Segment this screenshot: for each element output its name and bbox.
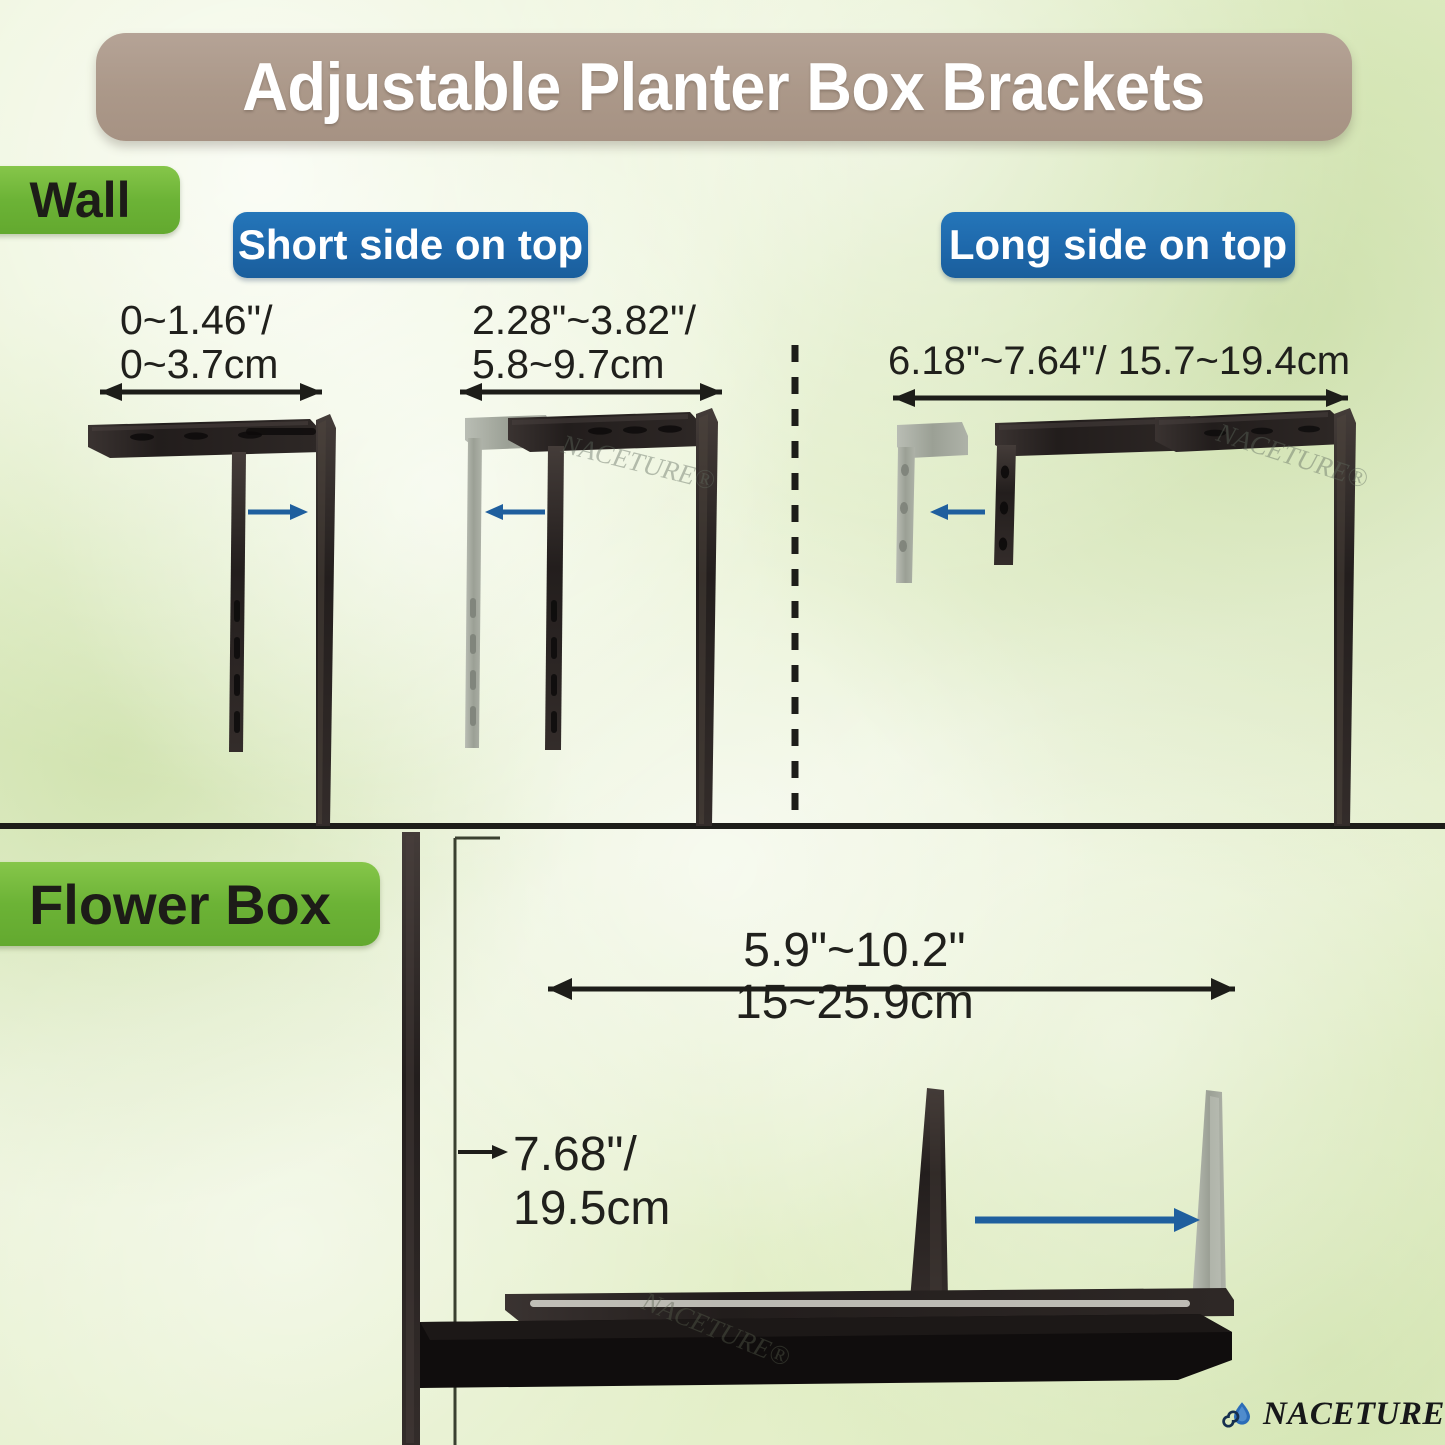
dimension-arrow-long-side [893, 389, 1348, 407]
dimension-label-box-width: 5.9"~10.2" 15~25.9cm [735, 925, 974, 1029]
section-badge-flower-box: Flower Box [0, 862, 380, 946]
bracket-short-side-dark-2 [485, 412, 702, 750]
dimension-label-short-max: 2.28"~3.82"/ 5.8~9.7cm [472, 298, 696, 387]
flower-box-bottom-rail [420, 1288, 1234, 1388]
dimension-line-2: 15~25.9cm [735, 977, 974, 1029]
dimension-line-2: 0~3.7cm [120, 342, 278, 386]
config-badge-short-side-on-top: Short side on top [233, 212, 588, 278]
dimension-label-short-min: 0~1.46"/ 0~3.7cm [120, 298, 278, 387]
watermark-3: NACETURE® [637, 1285, 795, 1372]
watermark-2: NACETURE® [1212, 417, 1372, 494]
wall-rail-left [316, 414, 336, 826]
brand-name: NACETURE® [1263, 1396, 1445, 1433]
adjust-arrow-left-1 [485, 504, 545, 520]
config-badge-long-side-label: Long side on top [949, 221, 1287, 269]
svg-text:NACETURE®: NACETURE® [637, 1285, 795, 1372]
flower-box-bracket-dark [910, 1088, 948, 1300]
bracket-short-side-ghost [465, 415, 552, 748]
config-badge-long-side-on-top: Long side on top [941, 212, 1295, 278]
brand-logo: NACETURE® [1222, 1396, 1445, 1433]
measure-guide-line [455, 838, 500, 1445]
bracket-long-top-arm [1155, 410, 1344, 452]
page-title-banner: Adjustable Planter Box Brackets [96, 33, 1352, 141]
dimension-label-box-height: 7.68"/ 19.5cm [513, 1128, 670, 1236]
dimension-line-1: 0~1.46"/ [120, 298, 278, 342]
bracket-long-side-dark [930, 416, 1202, 565]
adjust-arrow-left-2 [930, 504, 985, 520]
dimension-line-1: 7.68"/ [513, 1128, 670, 1182]
dimension-line-2: 19.5cm [513, 1182, 670, 1236]
wall-rail-mid [696, 408, 718, 826]
flower-box-wall-edge [402, 832, 420, 1445]
brand-name-text: NACETURE [1263, 1396, 1445, 1432]
section-badge-wall-label: Wall [30, 171, 131, 229]
config-badge-short-side-label: Short side on top [238, 221, 583, 269]
dimension-line-1: 2.28"~3.82"/ [472, 298, 696, 342]
bracket-short-side-dark [88, 419, 322, 752]
page-title: Adjustable Planter Box Brackets [243, 48, 1206, 126]
dimension-line-1: 5.9"~10.2" [735, 925, 974, 977]
dimension-arrow-box-height [458, 1145, 508, 1159]
dimension-label-long-side: 6.18"~7.64"/ 15.7~19.4cm [888, 340, 1350, 383]
svg-text:NACETURE®: NACETURE® [1212, 417, 1372, 494]
adjust-arrow-right-2 [975, 1208, 1200, 1232]
water-drop-infinity-icon [1222, 1399, 1254, 1431]
dimension-line-1: 6.18"~7.64"/ 15.7~19.4cm [888, 340, 1350, 383]
section-badge-flower-box-label: Flower Box [29, 872, 331, 937]
dimension-line-2: 5.8~9.7cm [472, 342, 696, 386]
wall-rail-right [1334, 408, 1356, 826]
bracket-long-side-ghost [896, 422, 968, 583]
adjust-arrow-right-1 [248, 504, 308, 520]
svg-text:NACETURE®: NACETURE® [558, 428, 719, 495]
section-badge-wall: Wall [0, 166, 180, 234]
infographic-canvas: Adjustable Planter Box Brackets Wall Sho… [0, 0, 1445, 1445]
watermark-1: NACETURE® [558, 428, 719, 495]
